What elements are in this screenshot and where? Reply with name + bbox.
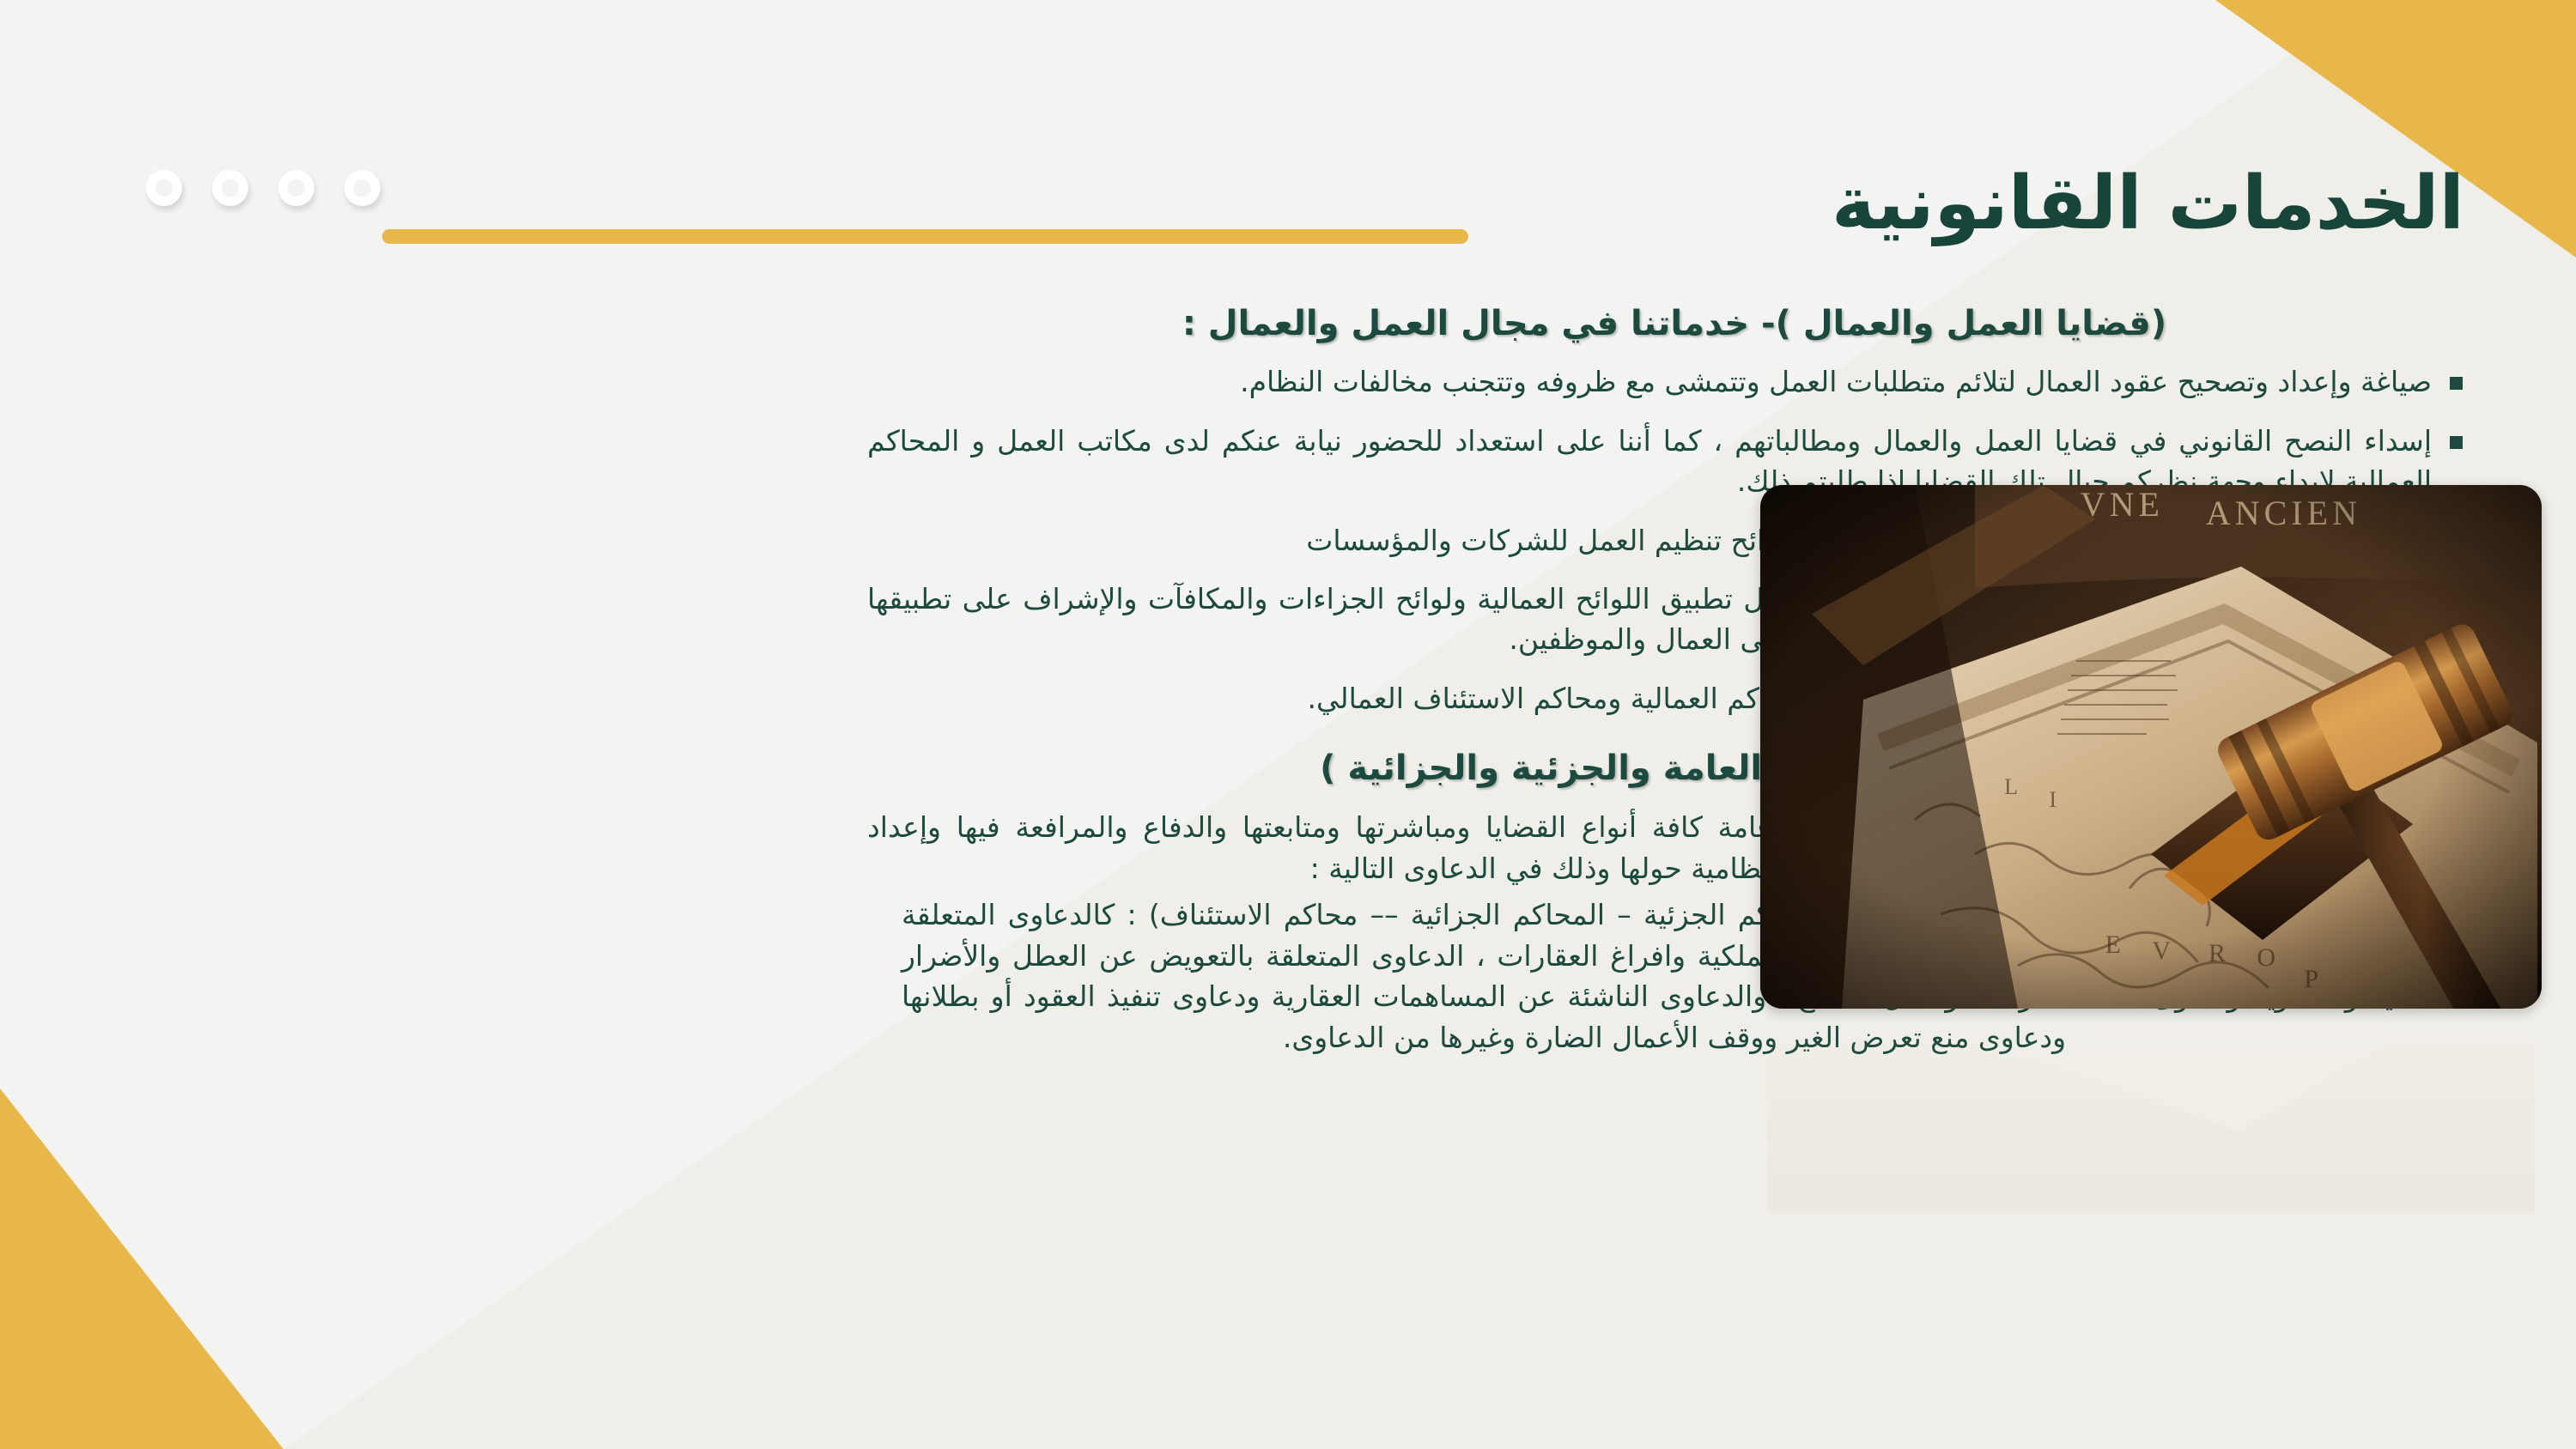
ring-icon <box>146 170 182 206</box>
list-item: صياغة وإعداد وتصحيح عقود العمال لتلائم م… <box>867 362 2482 403</box>
gavel-photo: VNE ANCIEN L I E <box>1760 485 2542 1009</box>
section-heading-labor: (قضايا العمل والعمال )- خدماتنا في مجال … <box>867 300 2482 347</box>
slide-root: الخدمات القانونية (قضايا العمل والعمال )… <box>0 0 2576 1449</box>
ring-icon <box>344 170 380 206</box>
decorative-rings <box>146 170 380 206</box>
ring-icon <box>212 170 248 206</box>
title-divider-rule <box>382 229 1468 244</box>
gavel-photo-container: VNE ANCIEN L I E <box>1760 485 2542 1009</box>
ring-icon <box>278 170 314 206</box>
page-title: الخدمات القانونية <box>1649 163 2464 245</box>
gavel-photo-reflection <box>1767 1016 2535 1213</box>
